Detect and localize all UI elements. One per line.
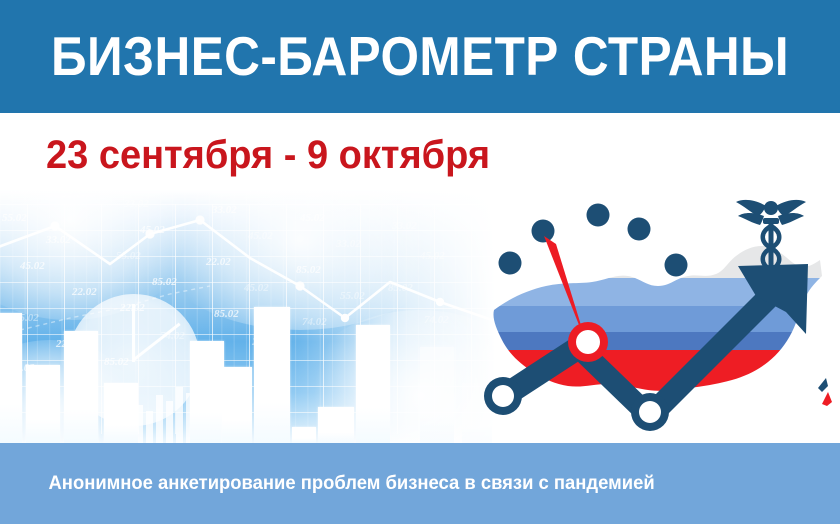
- business-chart-collage: 55.02 33.02 33.02 45.02 22.02 85.02 22.0…: [0, 190, 500, 443]
- footer-banner: Анонимное анкетирование проблем бизнеса …: [0, 443, 840, 524]
- scale-dot: [587, 204, 610, 227]
- page-title: БИЗНЕС-БАРОМЕТР СТРАНЫ: [51, 29, 789, 84]
- russia-map-barometer: [470, 190, 840, 443]
- map-far-east-detail: [818, 378, 832, 406]
- header-banner: БИЗНЕС-БАРОМЕТР СТРАНЫ: [0, 0, 840, 113]
- line-chart-icon: [0, 190, 500, 443]
- scale-dot: [628, 218, 651, 241]
- scale-dot: [532, 220, 555, 243]
- graphic-band: 55.02 33.02 33.02 45.02 22.02 85.02 22.0…: [0, 190, 840, 443]
- barometer-scale-dots: [499, 204, 688, 277]
- footer-caption: Анонимное анкетирование проблем бизнеса …: [0, 473, 655, 495]
- scale-dot: [665, 254, 688, 277]
- poster-root: БИЗНЕС-БАРОМЕТР СТРАНЫ 23 сентября - 9 о…: [0, 0, 840, 524]
- russia-map-icon: [470, 190, 840, 443]
- date-range-label: 23 сентября - 9 октября: [46, 132, 490, 178]
- scale-dot: [499, 252, 522, 275]
